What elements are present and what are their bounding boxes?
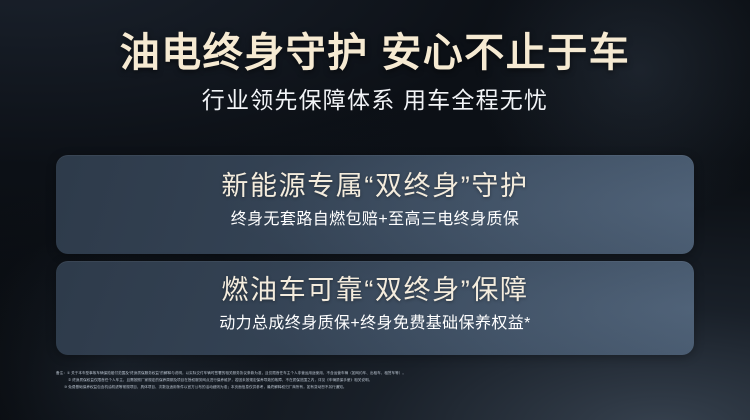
page-title: 油电终身守护 安心不止于车 xyxy=(0,30,750,77)
benefit-card-new-energy[interactable]: 新能源专属“双终身”守护 终身无套路自燃包赔+至高三电终身质保 xyxy=(56,155,694,254)
footnote-line: 备注：① 关于本车型事故车辆保险赔付范围及“终身质保服务权益”的解释与说明，以实… xyxy=(56,370,701,377)
footnote-text: ③ 免费基础保养权益包含机油机滤等常规项目，具体项目、次数及适用条件以官方公布的… xyxy=(64,385,347,389)
footnote-block: 备注：① 关于本车型事故车辆保险赔付范围及“终身质保服务权益”的解释与说明，以实… xyxy=(56,370,701,391)
benefit-card-title: 新能源专属“双终身”守护 xyxy=(56,169,694,204)
footnote-text: ② 终身质保权益仅限首任个人车主，且需按照厂家规定的保养周期及项目在授权服务网点… xyxy=(68,378,372,382)
benefit-card-list: 新能源专属“双终身”守护 终身无套路自燃包赔+至高三电终身质保 燃油车可靠“双终… xyxy=(56,155,694,355)
benefit-card-title: 燃油车可靠“双终身”保障 xyxy=(56,273,694,308)
benefit-card-fuel-vehicle-content: 燃油车可靠“双终身”保障 动力总成终身质保+终身免费基础保养权益* xyxy=(56,261,694,335)
header-block: 油电终身守护 安心不止于车 行业领先保障体系 用车全程无忧 xyxy=(0,30,750,115)
benefit-card-fuel-vehicle[interactable]: 燃油车可靠“双终身”保障 动力总成终身质保+终身免费基础保养权益* xyxy=(56,261,694,355)
footnote-line: ③ 免费基础保养权益包含机油机滤等常规项目，具体项目、次数及适用条件以官方公布的… xyxy=(56,384,701,391)
footnote-line: ② 终身质保权益仅限首任个人车主，且需按照厂家规定的保养周期及项目在授权服务网点… xyxy=(56,377,701,384)
footnote-text: ① 关于本车型事故车辆保险赔付范围及“终身质保服务权益”的解释与说明，以实际交付… xyxy=(67,371,406,375)
benefit-card-description: 终身无套路自燃包赔+至高三电终身质保 xyxy=(56,210,694,231)
benefit-card-description: 动力总成终身质保+终身免费基础保养权益* xyxy=(56,314,694,335)
footnote-label: 备注： xyxy=(56,371,67,375)
slide-root: 油电终身守护 安心不止于车 行业领先保障体系 用车全程无忧 新能源专属“双终身”… xyxy=(0,0,750,420)
page-subtitle: 行业领先保障体系 用车全程无忧 xyxy=(0,86,750,115)
benefit-card-new-energy-content: 新能源专属“双终身”守护 终身无套路自燃包赔+至高三电终身质保 xyxy=(56,155,694,231)
